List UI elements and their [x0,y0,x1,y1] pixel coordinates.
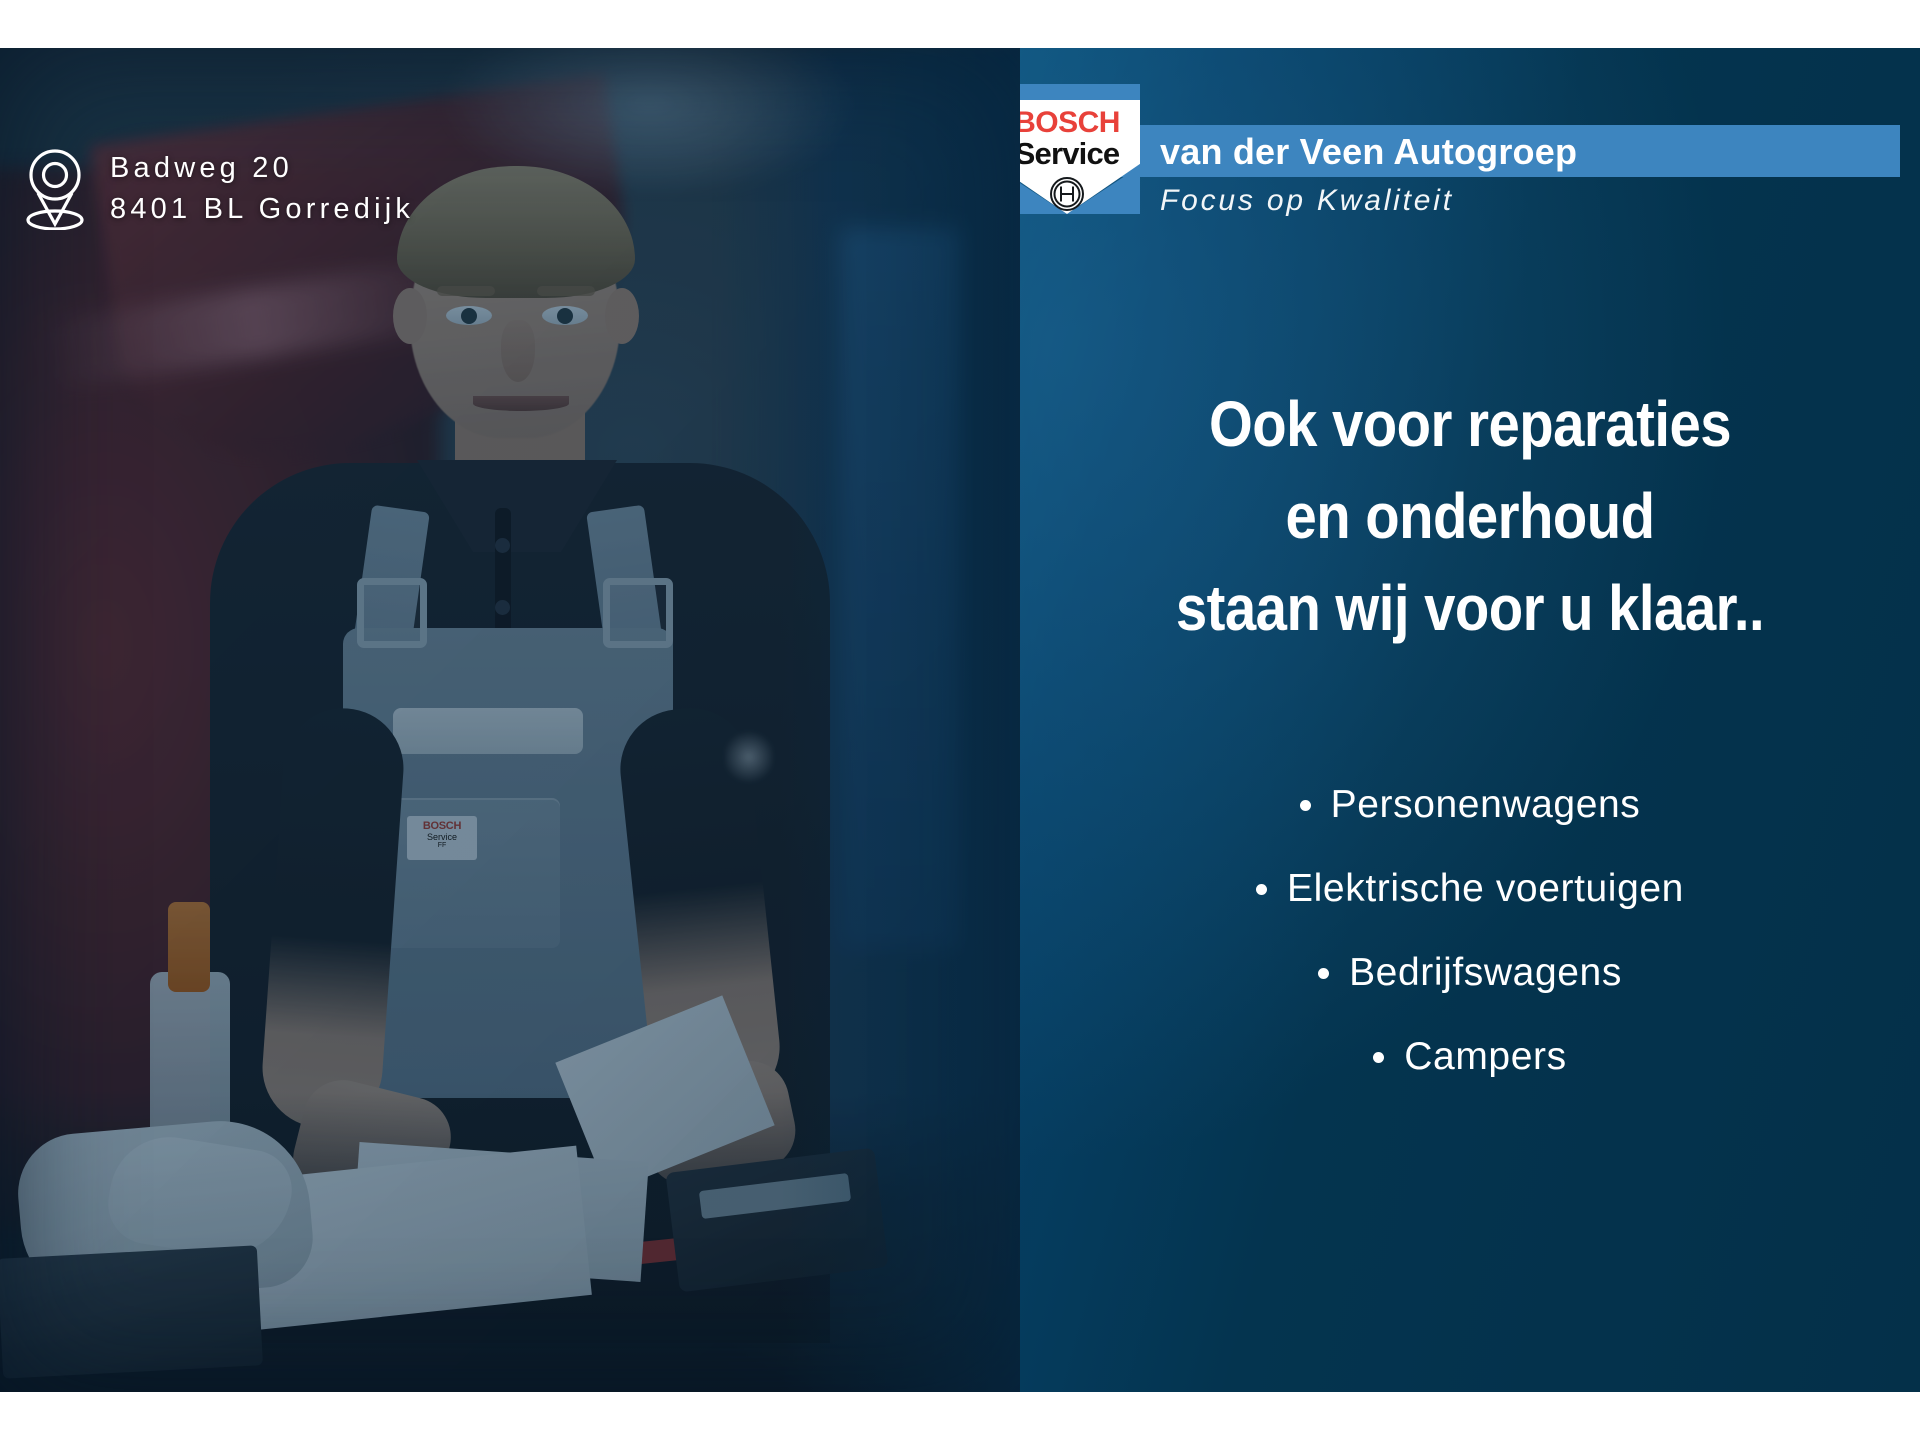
advertisement-banner: BOSCH Service FF [0,0,1920,1440]
list-item: Personenwagens [1300,783,1641,827]
address-line-city: 8401 BL Gorredijk [110,193,414,226]
bullet-dot-icon [1373,1052,1384,1063]
logo-bosch-text: BOSCH [1020,108,1140,138]
service-item-label: Personenwagens [1331,783,1641,827]
headline-block: Ook voor reparaties en onderhoud staan w… [1020,378,1920,654]
service-item-label: Campers [1404,1035,1566,1079]
bosch-service-logo: BOSCH Service [1020,84,1140,214]
address-overlay: Badweg 20 8401 BL Gorredijk [26,148,414,230]
logo-service-text: Service [1020,138,1140,170]
services-list: Personenwagens Elektrische voertuigen Be… [1020,783,1920,1079]
company-name: van der Veen Autogroep [1160,128,1900,176]
headline-line-2: en onderhoud [1074,470,1866,562]
headline-line-1: Ook voor reparaties [1074,378,1866,470]
address-line-street: Badweg 20 [110,152,414,185]
bullet-dot-icon [1300,800,1311,811]
bosch-armature-icon [1049,176,1085,212]
address-lines: Badweg 20 8401 BL Gorredijk [110,152,414,226]
logo-top-bar [1020,84,1140,100]
workshop-photo: BOSCH Service FF [0,48,1020,1392]
info-panel: BOSCH Service van der Veen Autogroep Foc… [1020,48,1920,1392]
brand-header: BOSCH Service van der Veen Autogroep Foc… [1020,80,1920,240]
list-item: Campers [1373,1035,1566,1079]
list-item: Elektrische voertuigen [1256,867,1684,911]
list-item: Bedrijfswagens [1318,951,1622,995]
service-item-label: Bedrijfswagens [1349,951,1622,995]
location-pin-icon [26,148,84,230]
headline-line-3: staan wij voor u klaar.. [1074,562,1866,654]
bullet-dot-icon [1256,884,1267,895]
bullet-dot-icon [1318,968,1329,979]
photo-edge-fade [780,48,1020,1392]
service-item-label: Elektrische voertuigen [1287,867,1684,911]
company-tagline: Focus op Kwaliteit [1160,184,1900,218]
